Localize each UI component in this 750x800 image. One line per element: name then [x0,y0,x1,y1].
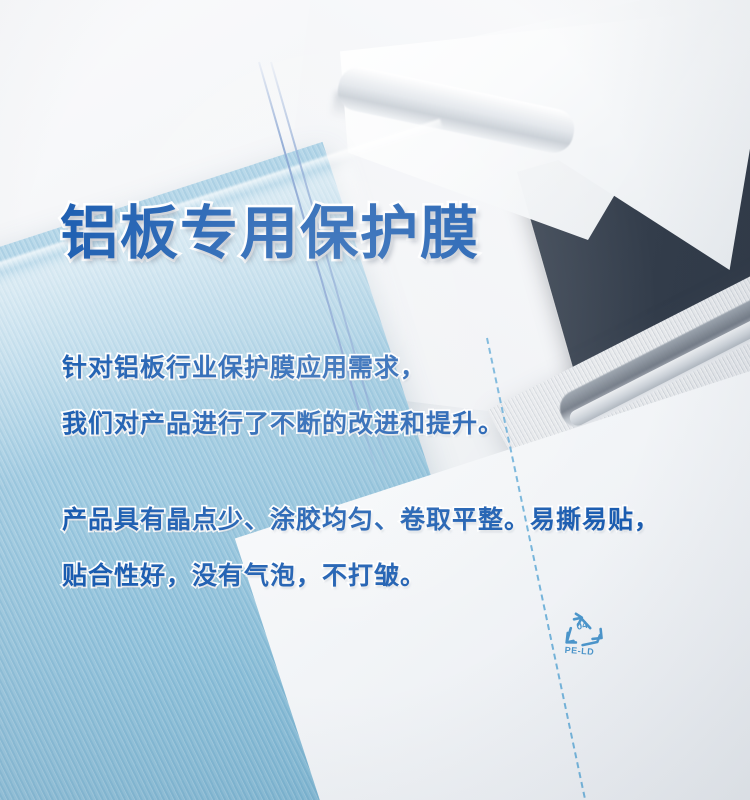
recycling-code: 04 [576,620,589,633]
page-title: 铝板专用保护膜 [60,186,480,270]
body-line-4: 贴合性好，没有气泡，不打皱。 [62,556,426,592]
body-line-1: 针对铝板行业保护膜应用需求， [62,348,426,384]
body-line-2: 我们对产品进行了不断的改进和提升。 [62,404,504,440]
body-line-3: 产品具有晶点少、涂胶均匀、卷取平整。易撕易贴， [62,500,660,536]
product-banner: 04 PE-LD 铝板专用保护膜 针对铝板行业保护膜应用需求， 我们对产品进行了… [0,0,750,800]
recycling-material: PE-LD [564,645,594,657]
